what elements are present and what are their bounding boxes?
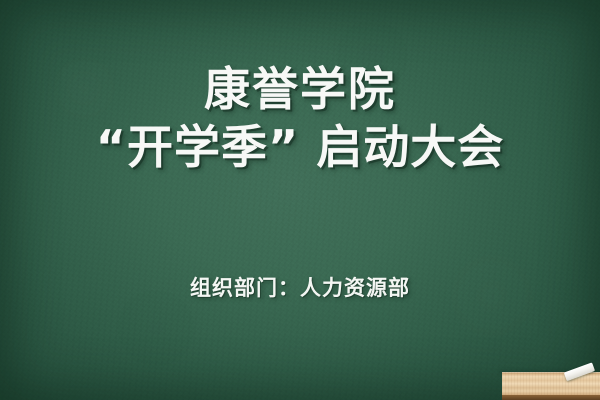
title-line-2: “开学季” 启动大会	[0, 118, 600, 176]
slide-title: 康誉学院 “开学季” 启动大会	[0, 60, 600, 176]
slide-subtitle: 组织部门：人力资源部	[0, 272, 600, 302]
title-line-1: 康誉学院	[0, 60, 600, 118]
presentation-slide: 康誉学院 “开学季” 启动大会 组织部门：人力资源部	[0, 0, 600, 400]
ledge-lip	[502, 395, 600, 400]
chalk-ledge-group	[502, 368, 600, 400]
slide-content: 康誉学院 “开学季” 启动大会 组织部门：人力资源部	[0, 0, 600, 400]
chalk-ledge	[502, 372, 600, 400]
